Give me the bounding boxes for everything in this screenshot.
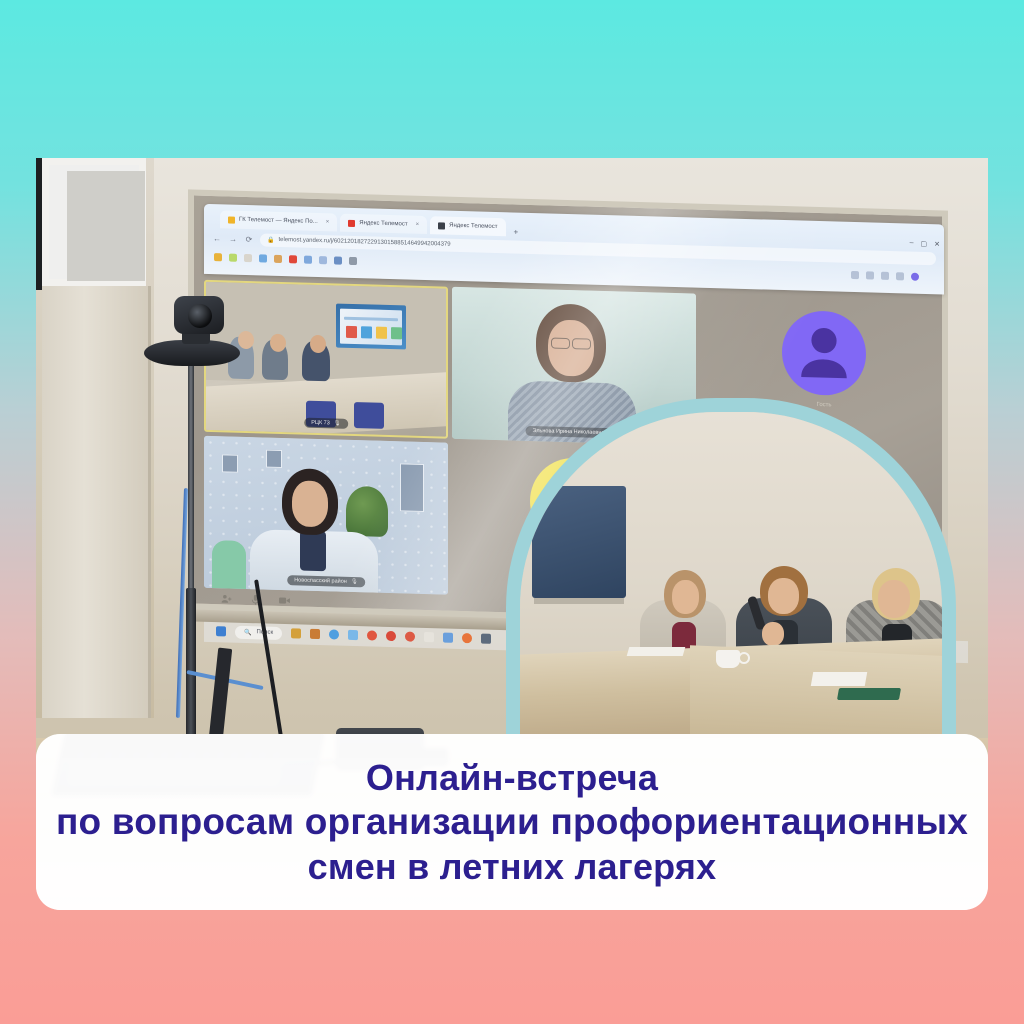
tile-person-face bbox=[292, 480, 328, 527]
window-pane bbox=[67, 171, 145, 281]
taskbar-icon[interactable] bbox=[462, 633, 472, 643]
caption-line-1: Онлайн-встреча bbox=[366, 756, 658, 800]
tv-square bbox=[346, 326, 357, 338]
back-icon[interactable]: ← bbox=[212, 234, 222, 243]
browser-window: ГК Телемост — Яндекс По... × Яндекс Теле… bbox=[204, 204, 944, 295]
taskbar-search[interactable]: 🔍 Поиск bbox=[235, 625, 282, 639]
forward-icon[interactable]: → bbox=[228, 234, 238, 243]
inset-person-center-hand bbox=[762, 622, 784, 646]
video-tile-3[interactable]: Новоспасский район 🎙 bbox=[204, 436, 448, 595]
tv-square bbox=[391, 327, 402, 339]
bookmark-icon[interactable] bbox=[244, 254, 252, 262]
tile-tv-screen bbox=[336, 304, 406, 350]
bookmark-icon[interactable] bbox=[304, 256, 312, 264]
caption-line-2: по вопросам организации профориентационн… bbox=[56, 799, 968, 844]
tv-square bbox=[361, 326, 372, 338]
taskbar-icon[interactable] bbox=[386, 631, 396, 641]
tv-square bbox=[376, 327, 387, 339]
inset-mug bbox=[716, 650, 740, 668]
reload-icon[interactable]: ⟳ bbox=[244, 234, 254, 243]
close-icon[interactable]: × bbox=[416, 222, 420, 228]
close-window-icon[interactable]: ✕ bbox=[934, 240, 940, 248]
bookmark-icon[interactable] bbox=[259, 254, 267, 262]
bookmark-icon[interactable] bbox=[334, 256, 342, 264]
menu-icon[interactable] bbox=[926, 273, 934, 281]
downloads-icon[interactable] bbox=[896, 272, 904, 280]
taskbar-icon[interactable] bbox=[424, 632, 434, 642]
profile-icon[interactable] bbox=[911, 273, 919, 281]
participant-avatar-cell-guest[interactable]: Гость bbox=[704, 308, 944, 412]
inset-papers bbox=[627, 647, 686, 656]
bookmark-icon[interactable] bbox=[289, 255, 297, 263]
inset-person-right-face bbox=[878, 580, 910, 618]
inset-mug-handle bbox=[738, 652, 750, 664]
taskbar-icon[interactable] bbox=[481, 634, 491, 644]
taskbar-icon[interactable] bbox=[367, 630, 377, 640]
wall-picture bbox=[266, 450, 282, 468]
tab-favicon bbox=[438, 222, 445, 229]
avatar bbox=[782, 310, 866, 396]
participant-nametag: РЦК 73 🎙 bbox=[304, 418, 348, 429]
taskbar-icon[interactable] bbox=[291, 628, 301, 638]
video-tile-1[interactable]: РЦК 73 🎙 bbox=[204, 280, 448, 439]
window-frame bbox=[42, 158, 146, 286]
tile-person-scarf bbox=[300, 531, 326, 572]
bookmark-icon[interactable] bbox=[214, 253, 222, 261]
nametag-text: Новоспасский район bbox=[294, 577, 347, 584]
new-tab-button[interactable]: + bbox=[509, 227, 524, 236]
inset-papers-right bbox=[811, 672, 867, 686]
browser-tab-2[interactable]: Яндекс Телемост × bbox=[340, 214, 427, 234]
bookmark-icon[interactable] bbox=[319, 256, 327, 264]
browser-tab-3[interactable]: Яндекс Телемост bbox=[430, 216, 505, 236]
inset-tv-screen bbox=[532, 486, 626, 598]
inset-notebook bbox=[837, 688, 901, 700]
tab-title: Яндекс Телемост bbox=[449, 223, 497, 230]
inset-person-left-face bbox=[672, 580, 699, 614]
wall-picture bbox=[400, 463, 424, 512]
maximize-icon[interactable]: ▢ bbox=[921, 240, 928, 248]
glasses-icon bbox=[551, 338, 570, 350]
tile-person bbox=[238, 331, 254, 349]
bookmark-icon[interactable] bbox=[349, 257, 357, 265]
lock-icon: 🔒 bbox=[267, 236, 274, 243]
inset-tv-stand bbox=[534, 598, 624, 604]
taskbar-icon[interactable] bbox=[443, 633, 453, 643]
star-icon[interactable] bbox=[881, 272, 889, 280]
mic-muted-icon: 🎙 bbox=[334, 420, 341, 426]
browser-tab-1[interactable]: ГК Телемост — Яндекс По... × bbox=[220, 210, 337, 231]
bookmark-icon[interactable] bbox=[274, 255, 282, 263]
person-icon bbox=[782, 310, 866, 396]
tile-person-secondary bbox=[212, 540, 246, 591]
inset-person-center-face bbox=[768, 578, 799, 614]
tab-favicon bbox=[228, 216, 235, 223]
glasses-icon bbox=[572, 338, 591, 350]
settings-icon[interactable] bbox=[866, 271, 874, 279]
tile-person bbox=[270, 334, 286, 352]
participant-nametag: Новоспасский район 🎙 bbox=[287, 575, 365, 587]
tile-person bbox=[310, 335, 326, 353]
tile-chair bbox=[354, 402, 384, 429]
taskbar-icon[interactable] bbox=[310, 629, 320, 639]
close-icon[interactable]: × bbox=[326, 219, 330, 225]
windows-start-icon[interactable] bbox=[216, 626, 226, 636]
extensions-icon[interactable] bbox=[851, 271, 859, 279]
window-controls: – ▢ ✕ bbox=[904, 239, 940, 248]
browser-toolbar-right bbox=[851, 271, 934, 281]
mic-muted-icon: 🎙 bbox=[351, 579, 358, 585]
door-post bbox=[42, 286, 151, 718]
search-icon: 🔍 bbox=[244, 628, 251, 635]
tab-favicon bbox=[348, 219, 355, 226]
tab-title: Яндекс Телемост bbox=[359, 220, 407, 227]
plant bbox=[346, 486, 388, 537]
bookmark-icon[interactable] bbox=[229, 254, 237, 262]
add-person-icon[interactable] bbox=[220, 592, 233, 605]
camera-icon[interactable] bbox=[278, 594, 291, 607]
url-text: telemost.yandex.ru/j/6021201827229130158… bbox=[278, 237, 450, 248]
wall-picture bbox=[222, 454, 238, 472]
caption-panel: Онлайн-встреча по вопросам организации п… bbox=[36, 734, 988, 910]
minimize-icon[interactable]: – bbox=[910, 240, 914, 248]
taskbar-icon[interactable] bbox=[405, 631, 415, 641]
poster-canvas: ГК Телемост — Яндекс По... × Яндекс Теле… bbox=[0, 0, 1024, 1024]
inset-photo bbox=[506, 398, 956, 738]
taskbar-icon[interactable] bbox=[329, 629, 339, 639]
nametag-text: РЦК 73 bbox=[311, 420, 330, 427]
taskbar-icon[interactable] bbox=[348, 630, 358, 640]
caption-line-3: смен в летних лагерях bbox=[308, 845, 717, 889]
camera-lens-icon bbox=[188, 304, 212, 328]
tab-title: ГК Телемост — Яндекс По... bbox=[239, 217, 318, 225]
